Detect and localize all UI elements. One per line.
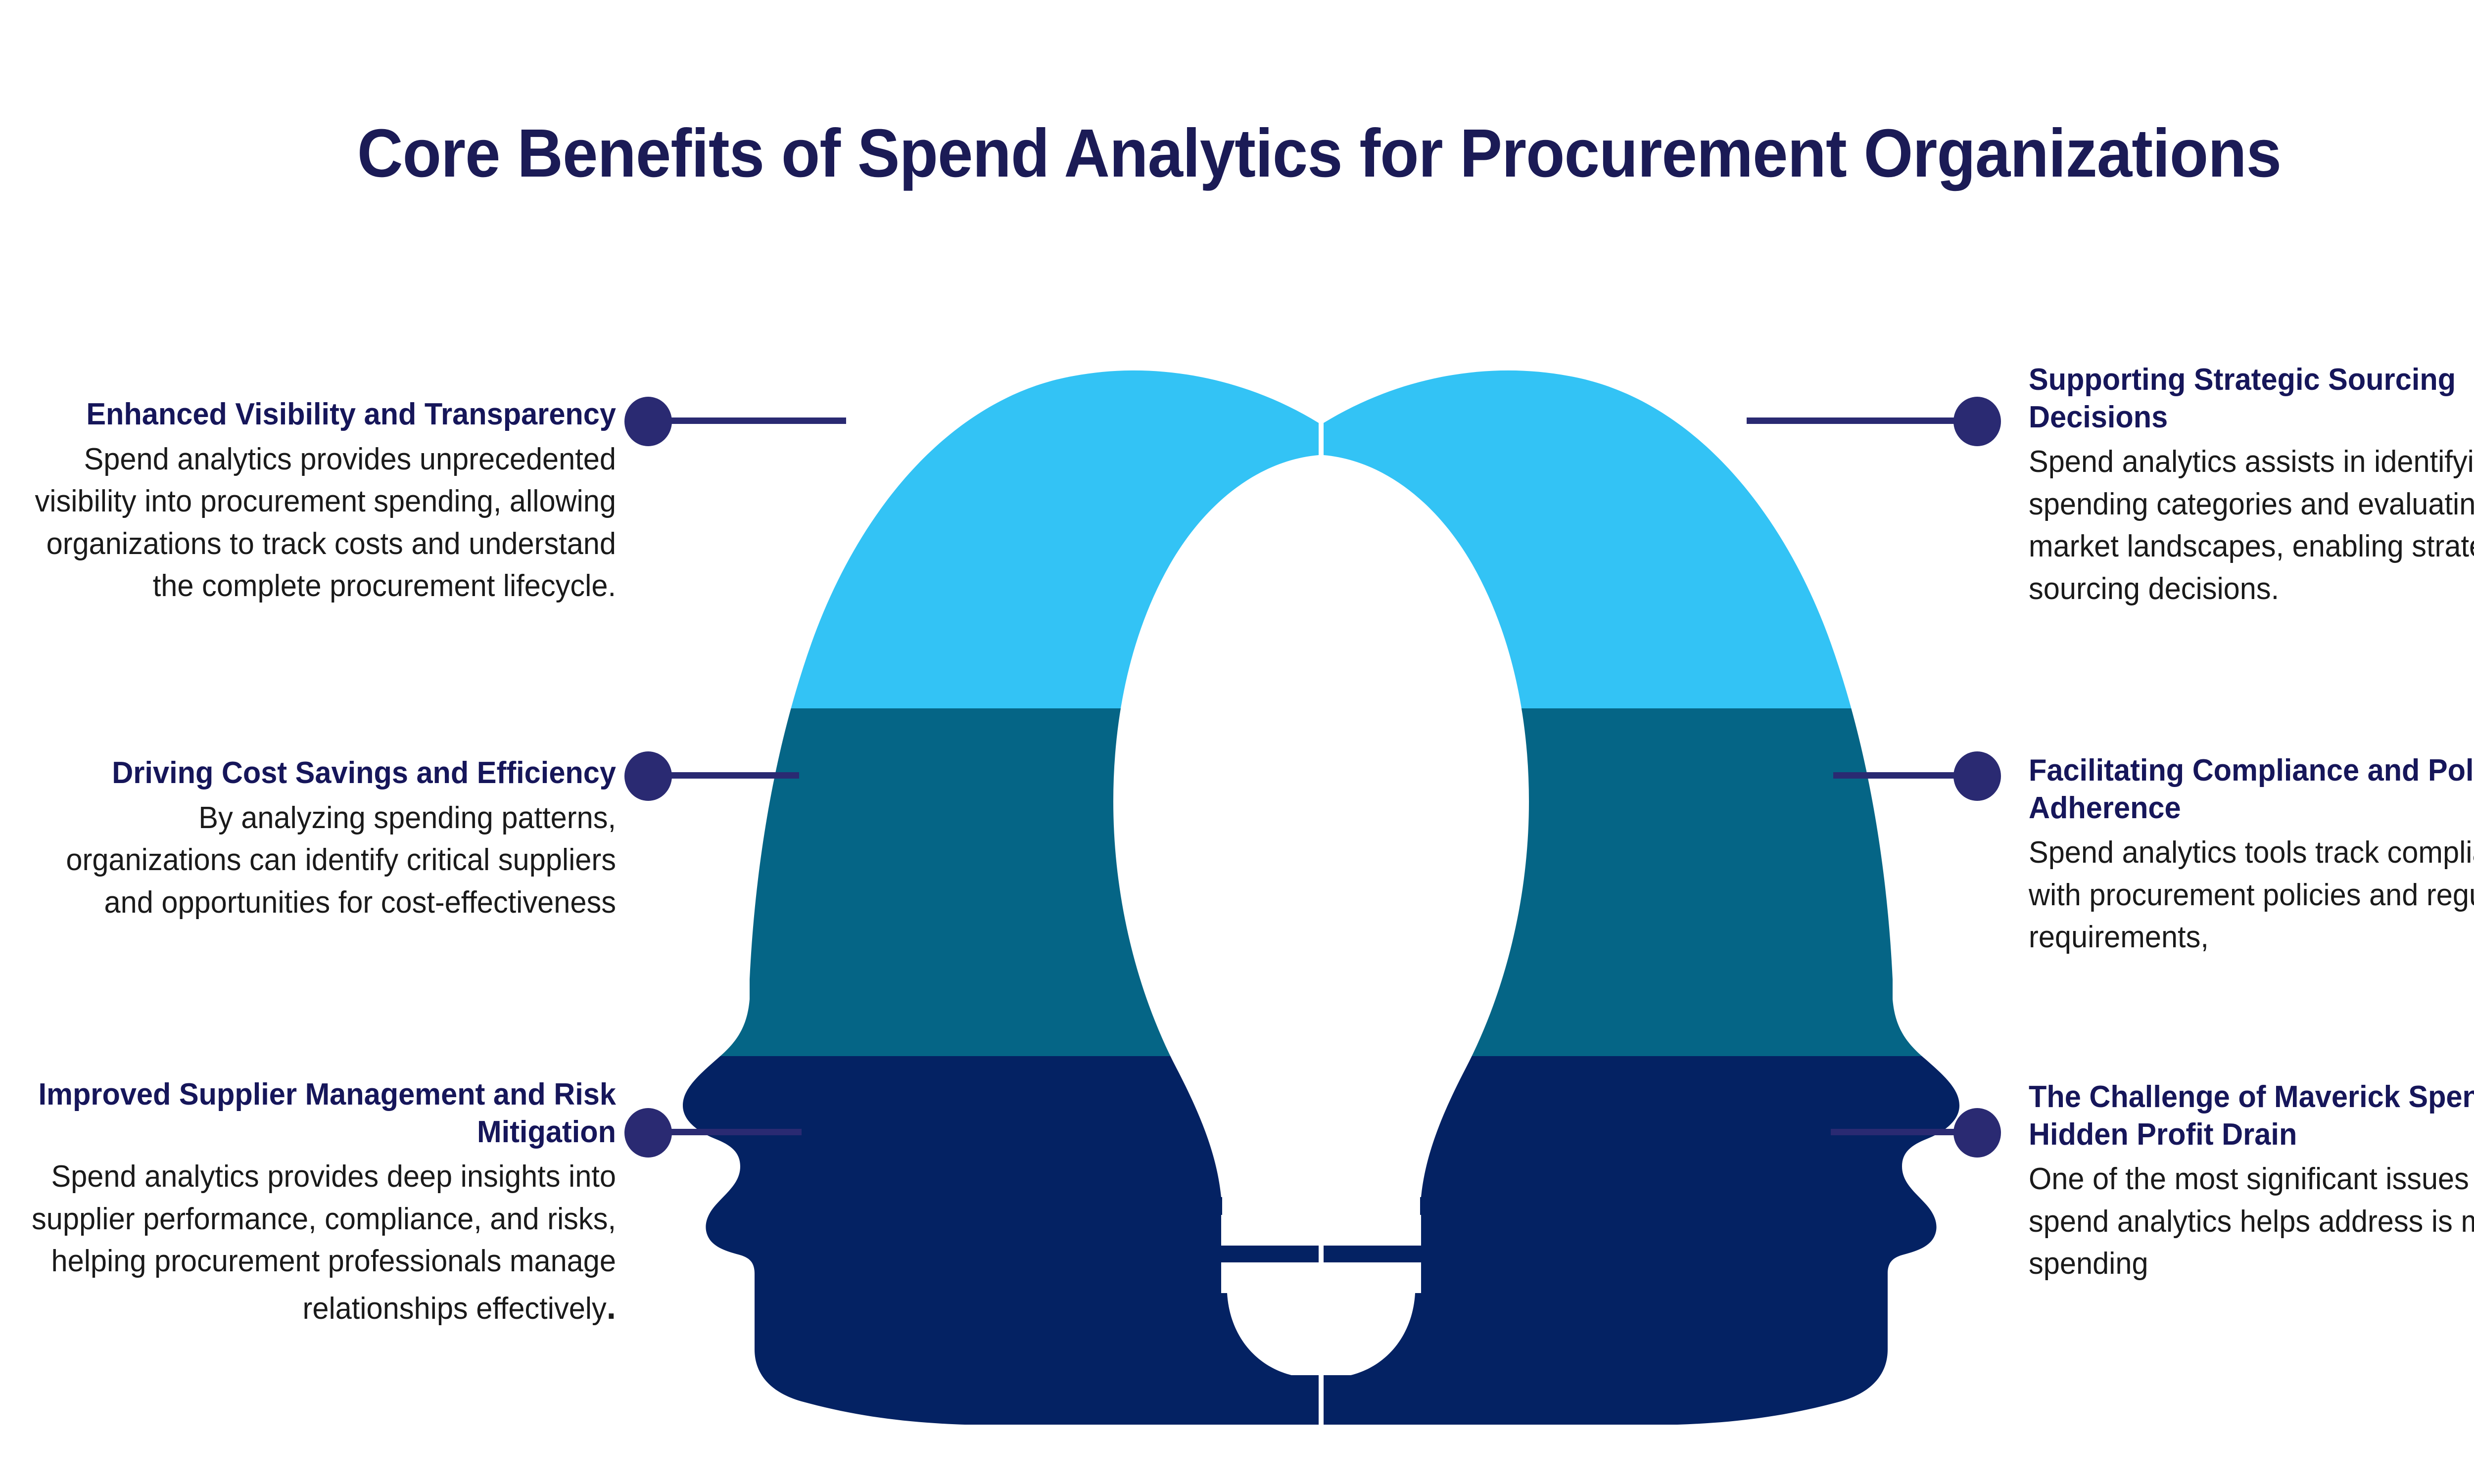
connector-dot <box>1953 1108 2001 1158</box>
benefit-body: By analyzing spending patterns, organiza… <box>25 797 616 924</box>
connector-line <box>1831 1129 1954 1135</box>
benefit-heading: Supporting Strategic Sourcing Decisions <box>2029 361 2474 436</box>
connector-line <box>653 417 846 424</box>
benefit-body-endmark: . <box>607 1287 616 1327</box>
connector-dot <box>624 397 672 446</box>
benefit-body: Spend analytics provides deep insights i… <box>25 1156 616 1332</box>
benefit-heading: Driving Cost Savings and Efficiency <box>25 754 616 792</box>
benefit-block-left-2: Driving Cost Savings and Efficiency By a… <box>0 754 616 924</box>
benefit-body-text: Spend analytics provides deep insights i… <box>32 1159 616 1326</box>
benefit-block-right-1: Supporting Strategic Sourcing Decisions … <box>2029 361 2474 610</box>
benefit-body: Spend analytics assists in identifying k… <box>2029 441 2474 610</box>
benefit-heading: Enhanced Visibility and Transparency <box>25 396 616 433</box>
connector-line <box>1747 417 1954 424</box>
left-head-silhouette <box>648 341 1321 1425</box>
benefit-body: Spend analytics tools track compliance w… <box>2029 832 2474 959</box>
benefit-block-right-3: The Challenge of Maverick Spending: A Hi… <box>2029 1078 2474 1285</box>
benefit-heading: Facilitating Compliance and Policy Adher… <box>2029 752 2474 827</box>
page-title: Core Benefits of Spend Analytics for Pro… <box>93 118 2474 189</box>
benefit-heading: The Challenge of Maverick Spending: A Hi… <box>2029 1078 2474 1153</box>
benefit-block-right-2: Facilitating Compliance and Policy Adher… <box>2029 752 2474 959</box>
connector-line <box>1833 772 1954 779</box>
connector-dot <box>624 751 672 801</box>
benefit-body: Spend analytics provides unprecedented v… <box>25 438 616 607</box>
benefit-body: One of the most significant issues that … <box>2029 1158 2474 1285</box>
right-head-silhouette <box>1321 341 1994 1425</box>
two-facing-heads-lightbulb-graphic <box>648 341 1994 1425</box>
connector-line <box>653 1129 802 1135</box>
benefit-heading: Improved Supplier Management and Risk Mi… <box>25 1076 616 1151</box>
connector-line <box>653 772 799 779</box>
connector-dot <box>624 1108 672 1158</box>
benefit-block-left-3: Improved Supplier Management and Risk Mi… <box>0 1076 616 1332</box>
connector-dot <box>1953 751 2001 801</box>
connector-dot <box>1953 397 2001 446</box>
infographic-canvas: Core Benefits of Spend Analytics for Pro… <box>0 0 2474 1484</box>
benefit-block-left-1: Enhanced Visibility and Transparency Spe… <box>0 396 616 607</box>
